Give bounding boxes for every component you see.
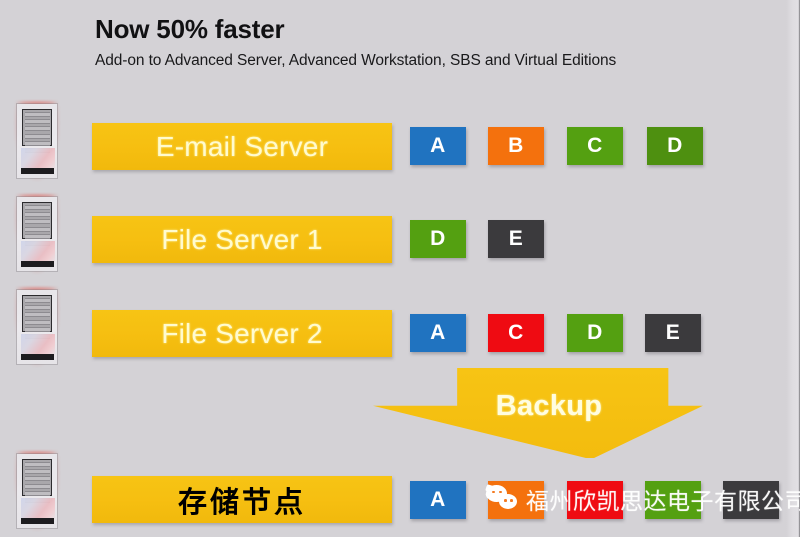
drive-bay-slot (25, 112, 50, 117)
row-label-text: File Server 2 (161, 318, 322, 350)
server-body (17, 454, 57, 528)
backup-arrow-label: Backup (373, 390, 703, 423)
server-tower-icon (14, 451, 60, 531)
letter-chip[interactable] (567, 481, 623, 519)
drive-bay-slot (25, 484, 50, 489)
row-label-bar[interactable]: E-mail Server (92, 123, 392, 170)
drive-bay-slot (25, 312, 50, 317)
page-subtitle: Add-on to Advanced Server, Advanced Work… (95, 52, 616, 70)
letter-chip[interactable]: A (410, 314, 466, 352)
letter-chip[interactable]: D (410, 220, 466, 258)
server-tower-icon (14, 101, 60, 181)
drive-bay-slot (25, 305, 50, 310)
row-label-text: E-mail Server (156, 131, 328, 163)
server-base (21, 261, 54, 267)
server-tower-icon (14, 194, 60, 274)
letter-chip-text: B (508, 134, 524, 158)
row-label-bar[interactable]: File Server 2 (92, 310, 392, 357)
server-body (17, 197, 57, 271)
letter-chip[interactable] (723, 481, 779, 519)
drive-bay-slot (25, 119, 50, 124)
drive-bay-slot (25, 320, 50, 325)
drive-bay-slot (25, 476, 50, 481)
letter-chip[interactable] (645, 481, 701, 519)
drive-bay-slot (25, 327, 50, 332)
drive-bay-slot (25, 134, 50, 139)
letter-chip-text: A (430, 134, 446, 158)
drive-bay-slot (25, 212, 50, 217)
row-label-text: 存储节点 (178, 479, 306, 521)
server-drive-bays (22, 109, 52, 146)
server-body (17, 104, 57, 178)
letter-chip[interactable]: A (410, 127, 466, 165)
letter-chip[interactable]: C (567, 127, 623, 165)
letter-chip[interactable]: C (488, 314, 544, 352)
server-tower-icon (14, 287, 60, 367)
letter-chip[interactable]: D (647, 127, 703, 165)
right-edge-band (786, 0, 800, 537)
drive-bay-slot (25, 219, 50, 224)
letter-chip-text: E (509, 227, 524, 251)
server-base (21, 168, 54, 174)
drive-bay-slot (25, 205, 50, 210)
letter-chip[interactable]: E (488, 220, 544, 258)
server-drive-bays (22, 202, 52, 239)
letter-chip-text: D (430, 227, 446, 251)
server-drive-bays (22, 459, 52, 496)
letter-chip-text: A (430, 321, 446, 345)
letter-chip[interactable]: D (567, 314, 623, 352)
drive-bay-slot (25, 469, 50, 474)
row-label-text: File Server 1 (161, 224, 322, 256)
drive-bay-slot (25, 491, 50, 496)
server-panel-sheen (21, 498, 55, 520)
backup-arrow: Backup (373, 368, 703, 458)
server-drive-bays (22, 295, 52, 332)
letter-chip[interactable]: E (645, 314, 701, 352)
server-panel-sheen (21, 241, 55, 263)
letter-chip[interactable] (488, 481, 544, 519)
drive-bay-slot (25, 227, 50, 232)
letter-chip-text: D (587, 321, 603, 345)
letter-chip-text: A (430, 488, 446, 512)
server-body (17, 290, 57, 364)
letter-chip-text: C (508, 321, 524, 345)
drive-bay-slot (25, 234, 50, 239)
letter-chip[interactable]: B (488, 127, 544, 165)
letter-chip[interactable]: A (410, 481, 466, 519)
row-label-bar[interactable]: 存储节点 (92, 476, 392, 523)
letter-chip-text: E (666, 321, 681, 345)
server-panel-sheen (21, 148, 55, 170)
server-panel-sheen (21, 334, 55, 356)
server-base (21, 518, 54, 524)
letter-chip-text: C (587, 134, 603, 158)
drive-bay-slot (25, 462, 50, 467)
row-label-bar[interactable]: File Server 1 (92, 216, 392, 263)
letter-chip-text: D (667, 134, 683, 158)
slide-canvas: Now 50% faster Add-on to Advanced Server… (0, 0, 800, 537)
drive-bay-slot (25, 126, 50, 131)
page-title: Now 50% faster (95, 14, 284, 45)
drive-bay-slot (25, 298, 50, 303)
drive-bay-slot (25, 141, 50, 146)
server-base (21, 354, 54, 360)
